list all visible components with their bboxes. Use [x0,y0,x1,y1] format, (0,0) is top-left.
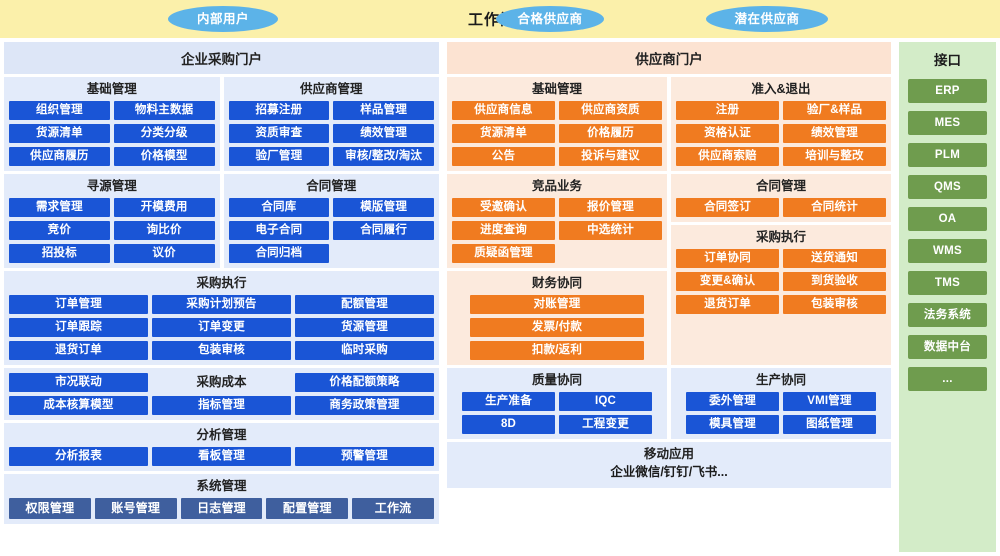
chip-tooling-cost[interactable]: 开模费用 [114,198,215,217]
chip-grid: 合同签订 合同统计 [676,198,886,217]
chip-contract-signing[interactable]: 合同签订 [676,198,779,217]
chip-contract-archiving[interactable]: 合同归档 [229,244,330,263]
group-title: 质量协同 [452,371,662,392]
chip-dashboard-management[interactable]: 看板管理 [152,447,291,466]
chip-grid: 委外管理 VMI管理 模具管理 图纸管理 [676,392,886,434]
chip-grid: 生产准备 IQC 8D 工程变更 [452,392,662,434]
chip-quota-management[interactable]: 配额管理 [295,295,434,314]
chip-factory-audit-management[interactable]: 验厂管理 [229,147,330,166]
group-production-collaboration: 生产协同 委外管理 VMI管理 模具管理 图纸管理 [671,368,891,439]
sidebar-item-oa[interactable]: OA [908,207,987,231]
supplier-portal: 供应商门户 基础管理 供应商信息 供应商资质 货源清单 价格履历 公告 投诉与建… [443,38,895,556]
chip-template-management[interactable]: 模版管理 [333,198,434,217]
chip-recruit-register[interactable]: 招募注册 [229,101,330,120]
group-title: 基础管理 [452,80,662,101]
chip-price-history[interactable]: 价格履历 [559,124,662,143]
chip-packaging-audit[interactable]: 包装审核 [152,341,291,360]
chip-grid: 需求管理 开模费用 竞价 询比价 招投标 议价 [9,198,215,263]
group-title: 准入&退出 [676,80,886,101]
chip-spacer [559,244,662,263]
group-supplier-contract-management: 合同管理 合同签订 合同统计 [671,174,891,222]
chip-workflow[interactable]: 工作流 [352,498,434,519]
chip-performance-management[interactable]: 绩效管理 [333,124,434,143]
chip-grid: 注册 验厂&样品 资格认证 绩效管理 供应商索赔 培训与整改 [676,101,886,166]
chip-inquiry-letter-management[interactable]: 质疑函管理 [452,244,555,263]
chip-grid: 合同库 模版管理 电子合同 合同履行 合同归档 [229,198,435,263]
chip-electronic-contract[interactable]: 电子合同 [229,221,330,240]
chip-delivery-notice[interactable]: 送货通知 [783,249,886,268]
chip-progress-query[interactable]: 进度查询 [452,221,555,240]
chip-business-policy-management[interactable]: 商务政策管理 [295,396,434,415]
user-pill-qualified-supplier[interactable]: 合格供应商 [496,6,604,32]
supplier-row-2: 竞品业务 受邀确认 报价管理 进度查询 中选统计 质疑函管理 财务 [447,174,891,365]
group-procurement-cost: 采购成本 市况联动 价格配额策略 成本核算模型 指标管理 商务政策管理 [4,368,439,420]
chip-outsourcing-management[interactable]: 委外管理 [686,392,779,411]
chip-quotation-management[interactable]: 报价管理 [559,198,662,217]
group-title: 供应商管理 [229,80,435,101]
group-analysis-management: 分析管理 分析报表 看板管理 预警管理 [4,423,439,471]
chip-return-order[interactable]: 退货订单 [9,341,148,360]
group-title: 采购执行 [676,228,886,249]
group-system-management: 系统管理 权限管理 账号管理 日志管理 配置管理 工作流 [4,474,439,524]
chip-contract-library[interactable]: 合同库 [229,198,330,217]
group-title: 基础管理 [9,80,215,101]
chip-material-master-data[interactable]: 物料主数据 [114,101,215,120]
chip-supplier-claim[interactable]: 供应商索赔 [676,147,779,166]
chip-deduction-rebate[interactable]: 扣款/返利 [470,341,644,360]
interface-sidebar-column: 接口 ERP MES PLM QMS OA WMS TMS 法务系统 数据中台 … [895,38,1000,556]
chip-price-model[interactable]: 价格模型 [114,147,215,166]
supplier-portal-body: 基础管理 供应商信息 供应商资质 货源清单 价格履历 公告 投诉与建议 准入&退… [443,77,895,556]
sidebar-item-plm[interactable]: PLM [908,143,987,167]
group-title: 寻源管理 [9,177,215,198]
chip-demand-management[interactable]: 需求管理 [9,198,110,217]
chip-source-list[interactable]: 货源清单 [452,124,555,143]
chip-contract-execution[interactable]: 合同履行 [333,221,434,240]
chip-qualification-certification[interactable]: 资格认证 [676,124,779,143]
chip-order-change[interactable]: 订单变更 [152,318,291,337]
mobile-app-subtitle: 企业微信/钉钉/飞书... [452,463,886,482]
group-procurement-execution: 采购执行 订单管理 采购计划预告 配额管理 订单跟踪 订单变更 货源管理 退货订… [4,271,439,365]
enterprise-portal-body: 基础管理 组织管理 物料主数据 货源清单 分类分级 供应商履历 价格模型 供应商… [0,77,443,556]
chip-grid: 受邀确认 报价管理 进度查询 中选统计 质疑函管理 [452,198,662,263]
group-title: 分析管理 [9,426,434,447]
chip-cost-accounting-model[interactable]: 成本核算模型 [9,396,148,415]
group-title: 竞品业务 [452,177,662,198]
sidebar-item-more[interactable]: ... [908,367,987,391]
group-quality-collaboration: 质量协同 生产准备 IQC 8D 工程变更 [447,368,667,439]
sidebar-item-legal-system[interactable]: 法务系统 [908,303,987,327]
chip-grid: 市况联动 价格配额策略 成本核算模型 指标管理 商务政策管理 [9,371,434,415]
chip-grid: 招募注册 样品管理 资质审查 绩效管理 验厂管理 审核/整改/淘汰 [229,101,435,166]
chip-grid: 订单协同 送货通知 变更&确认 到货验收 退货订单 包装审核 [676,249,886,314]
group-title: 财务协同 [452,274,662,295]
group-contract-management: 合同管理 合同库 模版管理 电子合同 合同履行 合同归档 [224,174,440,268]
chip-order-tracking[interactable]: 订单跟踪 [9,318,148,337]
group-basic-management: 基础管理 组织管理 物料主数据 货源清单 分类分级 供应商履历 价格模型 [4,77,220,171]
chip-return-order[interactable]: 退货订单 [676,295,779,314]
chip-announcement[interactable]: 公告 [452,147,555,166]
chip-mold-management[interactable]: 模具管理 [686,415,779,434]
enterprise-procurement-portal: 企业采购门户 基础管理 组织管理 物料主数据 货源清单 分类分级 供应商履历 价… [0,38,443,556]
chip-order-management[interactable]: 订单管理 [9,295,148,314]
chip-grid: 权限管理 账号管理 日志管理 配置管理 工作流 [9,498,434,519]
chip-sample-management[interactable]: 样品管理 [333,101,434,120]
group-supplier-basic-management: 基础管理 供应商信息 供应商资质 货源清单 价格履历 公告 投诉与建议 [447,77,667,171]
chip-8d[interactable]: 8D [462,415,555,434]
chip-source-management[interactable]: 货源管理 [295,318,434,337]
chip-audit-rectify-eliminate[interactable]: 审核/整改/淘汰 [333,147,434,166]
chip-spacer [152,373,291,392]
sidebar-item-mes[interactable]: MES [908,111,987,135]
chip-classification-grading[interactable]: 分类分级 [114,124,215,143]
sidebar-item-qms[interactable]: QMS [908,175,987,199]
group-mobile-app: 移动应用 企业微信/钉钉/飞书... [447,442,891,488]
group-supplier-procurement-execution: 采购执行 订单协同 送货通知 变更&确认 到货验收 退货订单 包装审核 [671,225,891,365]
chip-factory-audit-sample[interactable]: 验厂&样品 [783,101,886,120]
chip-vmi-management[interactable]: VMI管理 [783,392,876,411]
group-access-exit: 准入&退出 注册 验厂&样品 资格认证 绩效管理 供应商索赔 培训与整改 [671,77,891,171]
group-supplier-management: 供应商管理 招募注册 样品管理 资质审查 绩效管理 验厂管理 审核/整改/淘汰 [224,77,440,171]
chip-contract-statistics[interactable]: 合同统计 [783,198,886,217]
chip-registration[interactable]: 注册 [676,101,779,120]
chip-iqc[interactable]: IQC [559,392,652,411]
chip-performance-management[interactable]: 绩效管理 [783,124,886,143]
group-title: 系统管理 [9,477,434,498]
enterprise-portal-title: 企业采购门户 [4,42,439,74]
group-title: 采购执行 [9,274,434,295]
supplier-row-1: 基础管理 供应商信息 供应商资质 货源清单 价格履历 公告 投诉与建议 准入&退… [447,77,891,171]
chip-org-management[interactable]: 组织管理 [9,101,110,120]
header-bar: 工作门户 内部用户 合格供应商 潜在供应商 [0,0,1000,38]
supplier-portal-title: 供应商门户 [447,42,891,74]
chip-training-rectification[interactable]: 培训与整改 [783,147,886,166]
chip-price-quota-policy[interactable]: 价格配额策略 [295,373,434,392]
enterprise-row-1: 基础管理 组织管理 物料主数据 货源清单 分类分级 供应商履历 价格模型 供应商… [4,77,439,171]
chip-log-management[interactable]: 日志管理 [181,498,263,519]
mobile-app-title: 移动应用 [452,446,886,463]
chip-production-preparation[interactable]: 生产准备 [462,392,555,411]
chip-packaging-audit[interactable]: 包装审核 [783,295,886,314]
chip-config-management[interactable]: 配置管理 [266,498,348,519]
chip-indicator-management[interactable]: 指标管理 [152,396,291,415]
group-title: 生产协同 [676,371,886,392]
sidebar-item-tms[interactable]: TMS [908,271,987,295]
group-sourcing-management: 寻源管理 需求管理 开模费用 竞价 询比价 招投标 议价 [4,174,220,268]
chip-supplier-qualification[interactable]: 供应商资质 [559,101,662,120]
chip-qualification-review[interactable]: 资质审查 [229,124,330,143]
group-finance-collaboration: 财务协同 对账管理 发票/付款 扣款/返利 [447,271,667,365]
chip-drawing-management[interactable]: 图纸管理 [783,415,876,434]
chip-account-management[interactable]: 账号管理 [95,498,177,519]
user-pill-potential-supplier[interactable]: 潜在供应商 [706,6,828,32]
portal-columns: 企业采购门户 基础管理 组织管理 物料主数据 货源清单 分类分级 供应商履历 价… [0,38,1000,556]
chip-reconciliation-management[interactable]: 对账管理 [470,295,644,314]
group-bidding-business: 竞品业务 受邀确认 报价管理 进度查询 中选统计 质疑函管理 [447,174,667,268]
chip-goods-acceptance[interactable]: 到货验收 [783,272,886,291]
chip-change-confirm[interactable]: 变更&确认 [676,272,779,291]
chip-supplier-info[interactable]: 供应商信息 [452,101,555,120]
chip-complaints-suggestions[interactable]: 投诉与建议 [559,147,662,166]
chip-grid: 对账管理 发票/付款 扣款/返利 [452,295,662,360]
supplier-col-left: 竞品业务 受邀确认 报价管理 进度查询 中选统计 质疑函管理 财务 [447,174,667,365]
interface-sidebar: 接口 ERP MES PLM QMS OA WMS TMS 法务系统 数据中台 … [899,42,996,552]
chip-inquiry-comparison[interactable]: 询比价 [114,221,215,240]
chip-temporary-purchase[interactable]: 临时采购 [295,341,434,360]
chip-permission-management[interactable]: 权限管理 [9,498,91,519]
chip-market-linkage[interactable]: 市况联动 [9,373,148,392]
chip-tendering[interactable]: 招投标 [9,244,110,263]
sidebar-item-data-platform[interactable]: 数据中台 [908,335,987,359]
interface-sidebar-title: 接口 [908,49,987,71]
chip-grid: 分析报表 看板管理 预警管理 [9,447,434,466]
chip-engineering-change[interactable]: 工程变更 [559,415,652,434]
chip-supplier-history[interactable]: 供应商履历 [9,147,110,166]
supplier-row-3: 质量协同 生产准备 IQC 8D 工程变更 生产协同 委外管理 VMI管理 [447,368,891,439]
chip-grid: 组织管理 物料主数据 货源清单 分类分级 供应商履历 价格模型 [9,101,215,166]
architecture-diagram: 工作门户 内部用户 合格供应商 潜在供应商 企业采购门户 基础管理 组织管理 物… [0,0,1000,556]
chip-negotiation[interactable]: 议价 [114,244,215,263]
chip-order-collaboration[interactable]: 订单协同 [676,249,779,268]
chip-competitive-bidding[interactable]: 竞价 [9,221,110,240]
supplier-col-right: 合同管理 合同签订 合同统计 采购执行 订单协同 送货通知 变更&确认 [671,174,891,365]
group-title: 合同管理 [676,177,886,198]
chip-alert-management[interactable]: 预警管理 [295,447,434,466]
chip-source-list[interactable]: 货源清单 [9,124,110,143]
group-title: 合同管理 [229,177,435,198]
chip-analysis-report[interactable]: 分析报表 [9,447,148,466]
chip-invitation-confirm[interactable]: 受邀确认 [452,198,555,217]
chip-purchase-plan-forecast[interactable]: 采购计划预告 [152,295,291,314]
enterprise-row-2: 寻源管理 需求管理 开模费用 竞价 询比价 招投标 议价 合同管理 [4,174,439,268]
chip-selection-statistics[interactable]: 中选统计 [559,221,662,240]
chip-invoice-payment[interactable]: 发票/付款 [470,318,644,337]
sidebar-item-wms[interactable]: WMS [908,239,987,263]
sidebar-item-erp[interactable]: ERP [908,79,987,103]
chip-grid: 供应商信息 供应商资质 货源清单 价格履历 公告 投诉与建议 [452,101,662,166]
chip-grid: 订单管理 采购计划预告 配额管理 订单跟踪 订单变更 货源管理 退货订单 包装审… [9,295,434,360]
user-pill-internal[interactable]: 内部用户 [168,6,278,32]
